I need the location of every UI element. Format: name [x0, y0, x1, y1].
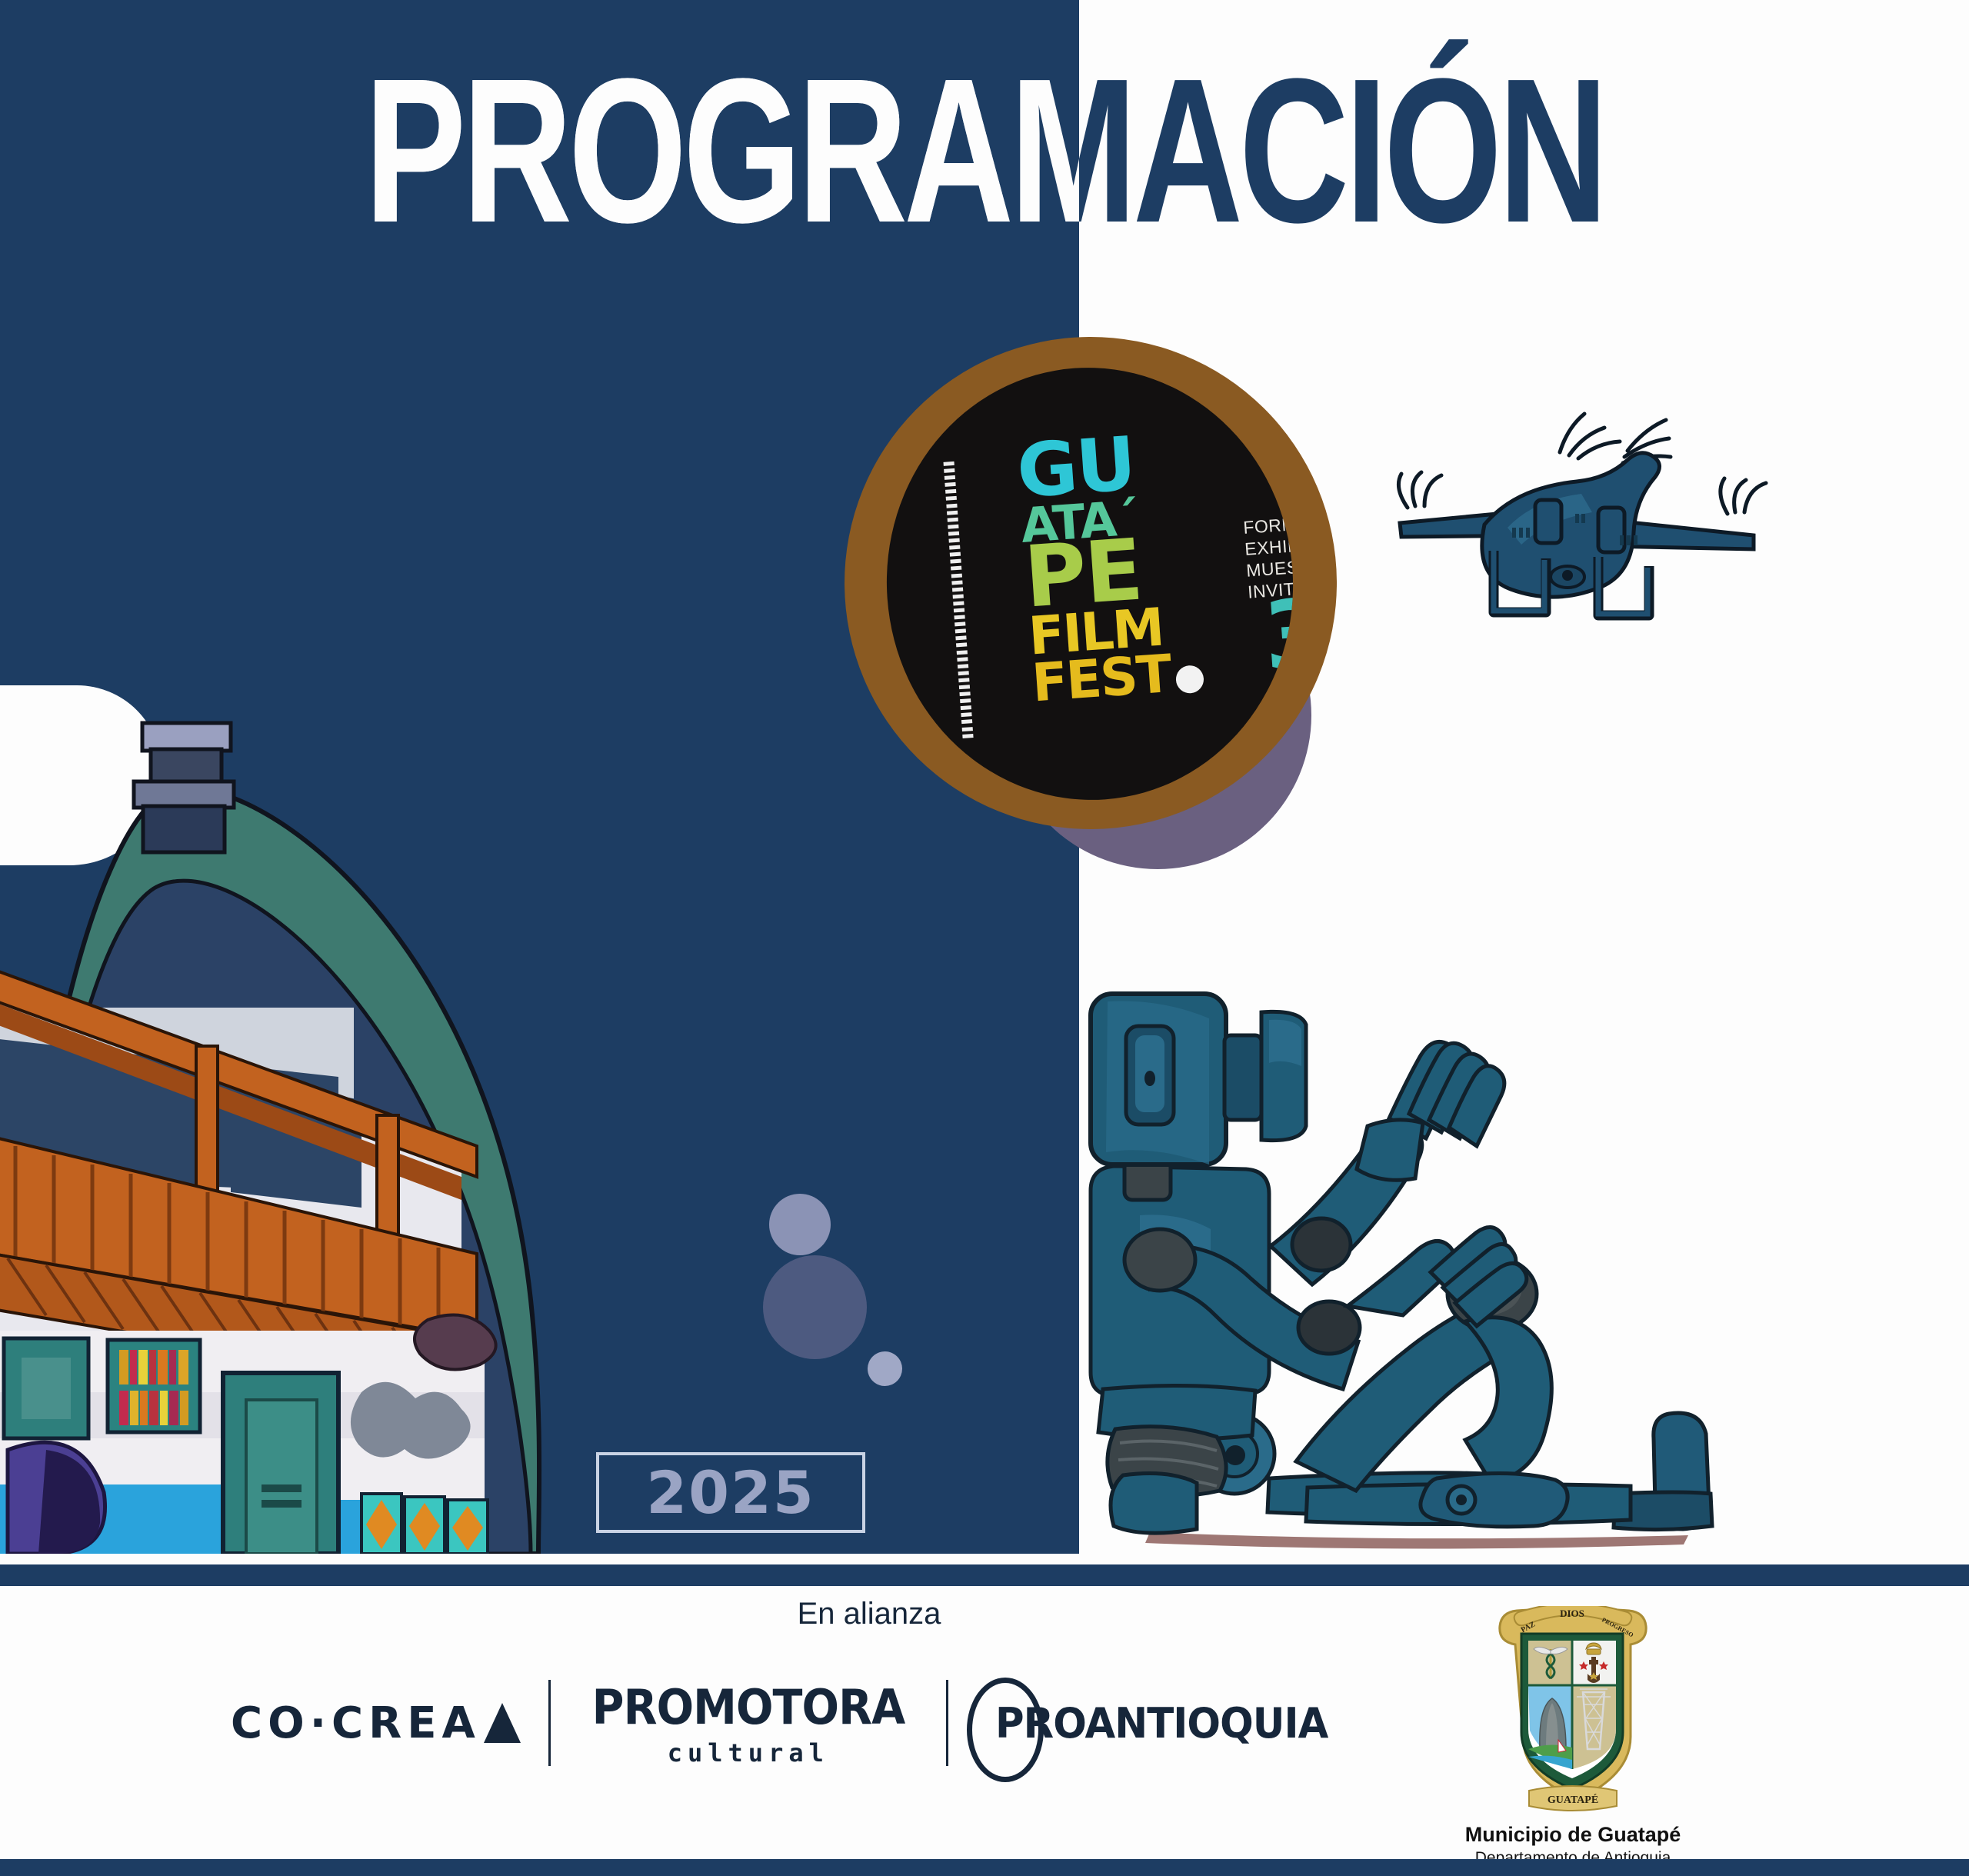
crest-scroll-guatape: GUATAPÉ [1548, 1793, 1598, 1806]
cocrea-logo: CO·CREA [231, 1698, 521, 1748]
page-title-left: PROGRA [365, 35, 1010, 265]
drone-illustration [1354, 385, 1831, 631]
film-sprocket-strip [944, 462, 974, 738]
guatape-coat-of-arms: DIOS PAZ PROGRESO [1484, 1606, 1661, 1829]
cocrea-logo-text: CO·CREA [231, 1698, 481, 1748]
guatape-building-illustration [0, 715, 554, 1554]
page-title: PROGRAMACIÓN [0, 73, 1969, 229]
divider-band-mid [0, 1564, 1969, 1586]
proantioquia-logo: PROANTIOQUIA [976, 1699, 1337, 1748]
cocrea-triangle-icon [484, 1703, 521, 1743]
footer: En alianza CO·CREA PROMOTORA cultural PR… [0, 1586, 1969, 1859]
sponsor-divider [946, 1680, 948, 1766]
crest-motto-dios: DIOS [1560, 1608, 1584, 1619]
en-alianza-label: En alianza [754, 1597, 984, 1631]
poster-root: PROGRAMACIÓN PROGRAMACIÓN [0, 0, 1969, 1876]
divider-band-bottom [0, 1859, 1969, 1876]
decorative-circle [769, 1194, 831, 1255]
sponsor-divider [548, 1680, 551, 1766]
robot-illustration [1077, 961, 1769, 1561]
crest-caption-municipality: Municipio de Guatapé [1427, 1823, 1719, 1847]
promotora-line1: PROMOTORA [591, 1679, 905, 1735]
decorative-circle [868, 1351, 902, 1386]
guatape-film-fest-logo: GU ATA´ PE FILM FEST FORMACIÓN EXHIBICIÓ… [838, 331, 1346, 861]
promotora-line2: cultural [668, 1738, 829, 1768]
year-badge-label: 2025 [646, 1458, 815, 1527]
sponsor-row: CO·CREA PROMOTORA cultural PROANTIOQUIA [231, 1677, 1337, 1769]
logo-wordmark: GU ATA´ PE FILM FEST [1015, 425, 1249, 707]
decorative-circle [763, 1255, 867, 1359]
page-title-right: MACIÓN [1010, 35, 1604, 265]
year-badge: 2025 [596, 1452, 865, 1533]
logo-line-fest: FEST [1031, 647, 1248, 707]
proantioquia-text: PROANTIOQUIA [985, 1699, 1328, 1748]
promotora-cultural-logo: PROMOTORA cultural [578, 1679, 918, 1768]
